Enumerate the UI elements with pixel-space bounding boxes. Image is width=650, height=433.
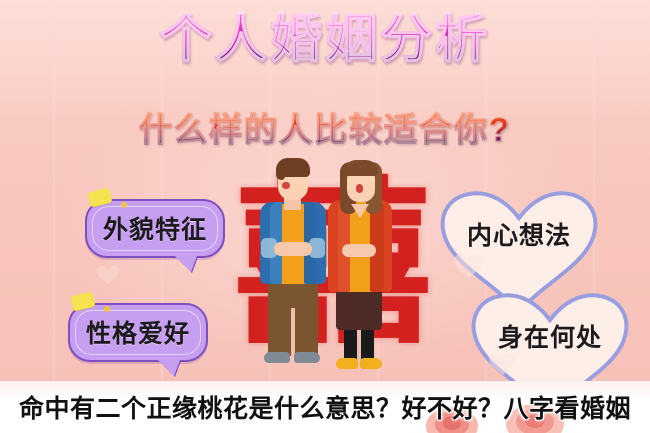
bubble-personality-body: 性格爱好 (68, 303, 208, 362)
poster-image: 个人婚姻分析 什么样的人比较适合你? 囍 (0, 0, 650, 433)
man-hands (274, 242, 312, 256)
decorative-heart-icon (452, 253, 486, 284)
caption-bar: 命中有二个正缘桃花是什么意思？好不好？八字看婚姻 (0, 381, 650, 433)
page-subtitle: 什么样的人比较适合你? (0, 110, 650, 150)
page-title: 个人婚姻分析 (0, 14, 650, 66)
man-shoe-right (294, 352, 320, 363)
man-mouth (282, 182, 290, 189)
caption-text: 命中有二个正缘桃花是什么意思？好不好？八字看婚姻 (19, 389, 631, 425)
bubble-inner-mind-label: 内心想法 (437, 216, 601, 252)
man-hair-side (276, 164, 285, 180)
man-shoe-left (264, 352, 290, 363)
man-leg-gap (291, 308, 295, 356)
bubble-appearance-tail (175, 256, 197, 272)
woman-shoe-left (336, 358, 358, 369)
bubble-appearance-body: 外貌特征 (85, 199, 225, 258)
bubble-personality-label: 性格爱好 (86, 314, 190, 350)
decorative-heart-icon (95, 265, 121, 290)
woman-shoe-right (360, 358, 382, 369)
bubble-personality[interactable]: 性格爱好 (68, 303, 208, 362)
couple-illustration (252, 158, 400, 390)
bubble-whereabouts-label: 身在何处 (468, 318, 632, 354)
decorative-heart-icon (487, 352, 519, 381)
bubble-appearance[interactable]: 外貌特征 (85, 199, 225, 258)
bubble-appearance-label: 外貌特征 (103, 210, 207, 246)
bubble-personality-tail (158, 360, 180, 376)
woman-hair-top (344, 160, 378, 176)
woman-hands (342, 244, 376, 257)
bubble-personality-yellow-dot-icon (104, 306, 110, 312)
bubble-appearance-yellow-dot-icon (121, 202, 127, 208)
woman-mouth (356, 184, 363, 193)
